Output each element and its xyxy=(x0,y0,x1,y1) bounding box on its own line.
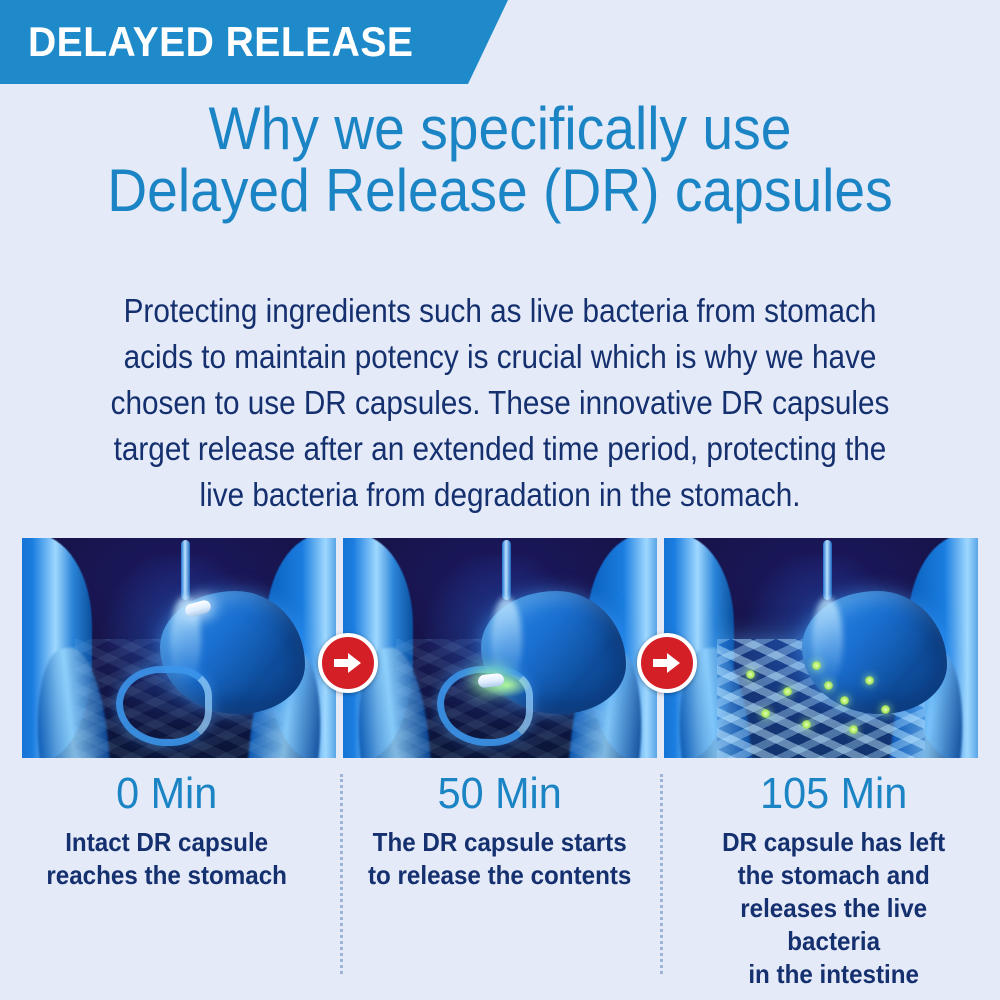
illustration-panel-0min xyxy=(22,538,336,758)
intro-line-5: live bacteria from degradation in the st… xyxy=(104,472,896,518)
intro-line-1: Protecting ingredients such as live bact… xyxy=(104,288,896,334)
stomach-illustration xyxy=(664,538,978,758)
page-title: Why we specifically use Delayed Release … xyxy=(0,98,1000,222)
stomach-illustration xyxy=(343,538,657,758)
bacteria-dot xyxy=(812,661,821,670)
stomach-illustration xyxy=(22,538,336,758)
duodenum xyxy=(116,666,212,746)
step-time-label: 105 Min xyxy=(690,768,977,820)
intro-line-4: target release after an extended time pe… xyxy=(104,426,896,472)
illustration-panel-50min xyxy=(343,538,657,758)
stomach-highlight xyxy=(812,597,843,685)
esophagus xyxy=(502,540,511,600)
step-description-line-2: to release the contents xyxy=(358,859,642,892)
step-description-line-2: the stomach and xyxy=(691,859,975,892)
step-description-line-4: in the intestine xyxy=(691,958,975,991)
bacteria-dot xyxy=(746,670,755,679)
bacteria-dot xyxy=(840,696,849,705)
step-description-line-1: The DR capsule starts xyxy=(358,826,642,859)
illustration-panel-105min xyxy=(664,538,978,758)
infographic-page: DELAYED RELEASE Why we specifically use … xyxy=(0,0,1000,1000)
banner-label: DELAYED RELEASE xyxy=(28,18,413,66)
page-title-line-2: Delayed Release (DR) capsules xyxy=(40,160,960,222)
page-title-line-1: Why we specifically use xyxy=(40,98,960,160)
step-0min: 0 Min Intact DR capsule reaches the stom… xyxy=(0,768,333,980)
step-time-label: 50 Min xyxy=(356,768,643,820)
bacteria-dot xyxy=(849,725,858,734)
steps-captions: 0 Min Intact DR capsule reaches the stom… xyxy=(0,768,1000,980)
step-105min: 105 Min DR capsule has left the stomach … xyxy=(667,768,1000,980)
step-description-line-3: releases the live bacteria xyxy=(691,892,975,958)
step-time-label: 0 Min xyxy=(23,768,310,820)
arrow-right-icon xyxy=(318,633,378,693)
step-description-line-2: reaches the stomach xyxy=(25,859,309,892)
illustration-strip xyxy=(22,538,978,758)
delayed-release-banner: DELAYED RELEASE xyxy=(0,0,508,84)
esophagus xyxy=(823,540,832,600)
intro-paragraph: Protecting ingredients such as live bact… xyxy=(60,288,940,518)
intro-line-3: chosen to use DR capsules. These innovat… xyxy=(104,380,896,426)
arrow-right-icon xyxy=(637,633,697,693)
intro-line-2: acids to maintain potency is crucial whi… xyxy=(104,334,896,380)
bacteria-dot xyxy=(881,705,890,714)
step-50min: 50 Min The DR capsule starts to release … xyxy=(333,768,666,980)
step-description-line-1: Intact DR capsule xyxy=(25,826,309,859)
step-description-line-1: DR capsule has left xyxy=(691,826,975,859)
esophagus xyxy=(181,540,190,600)
bacteria-dot xyxy=(824,681,833,690)
